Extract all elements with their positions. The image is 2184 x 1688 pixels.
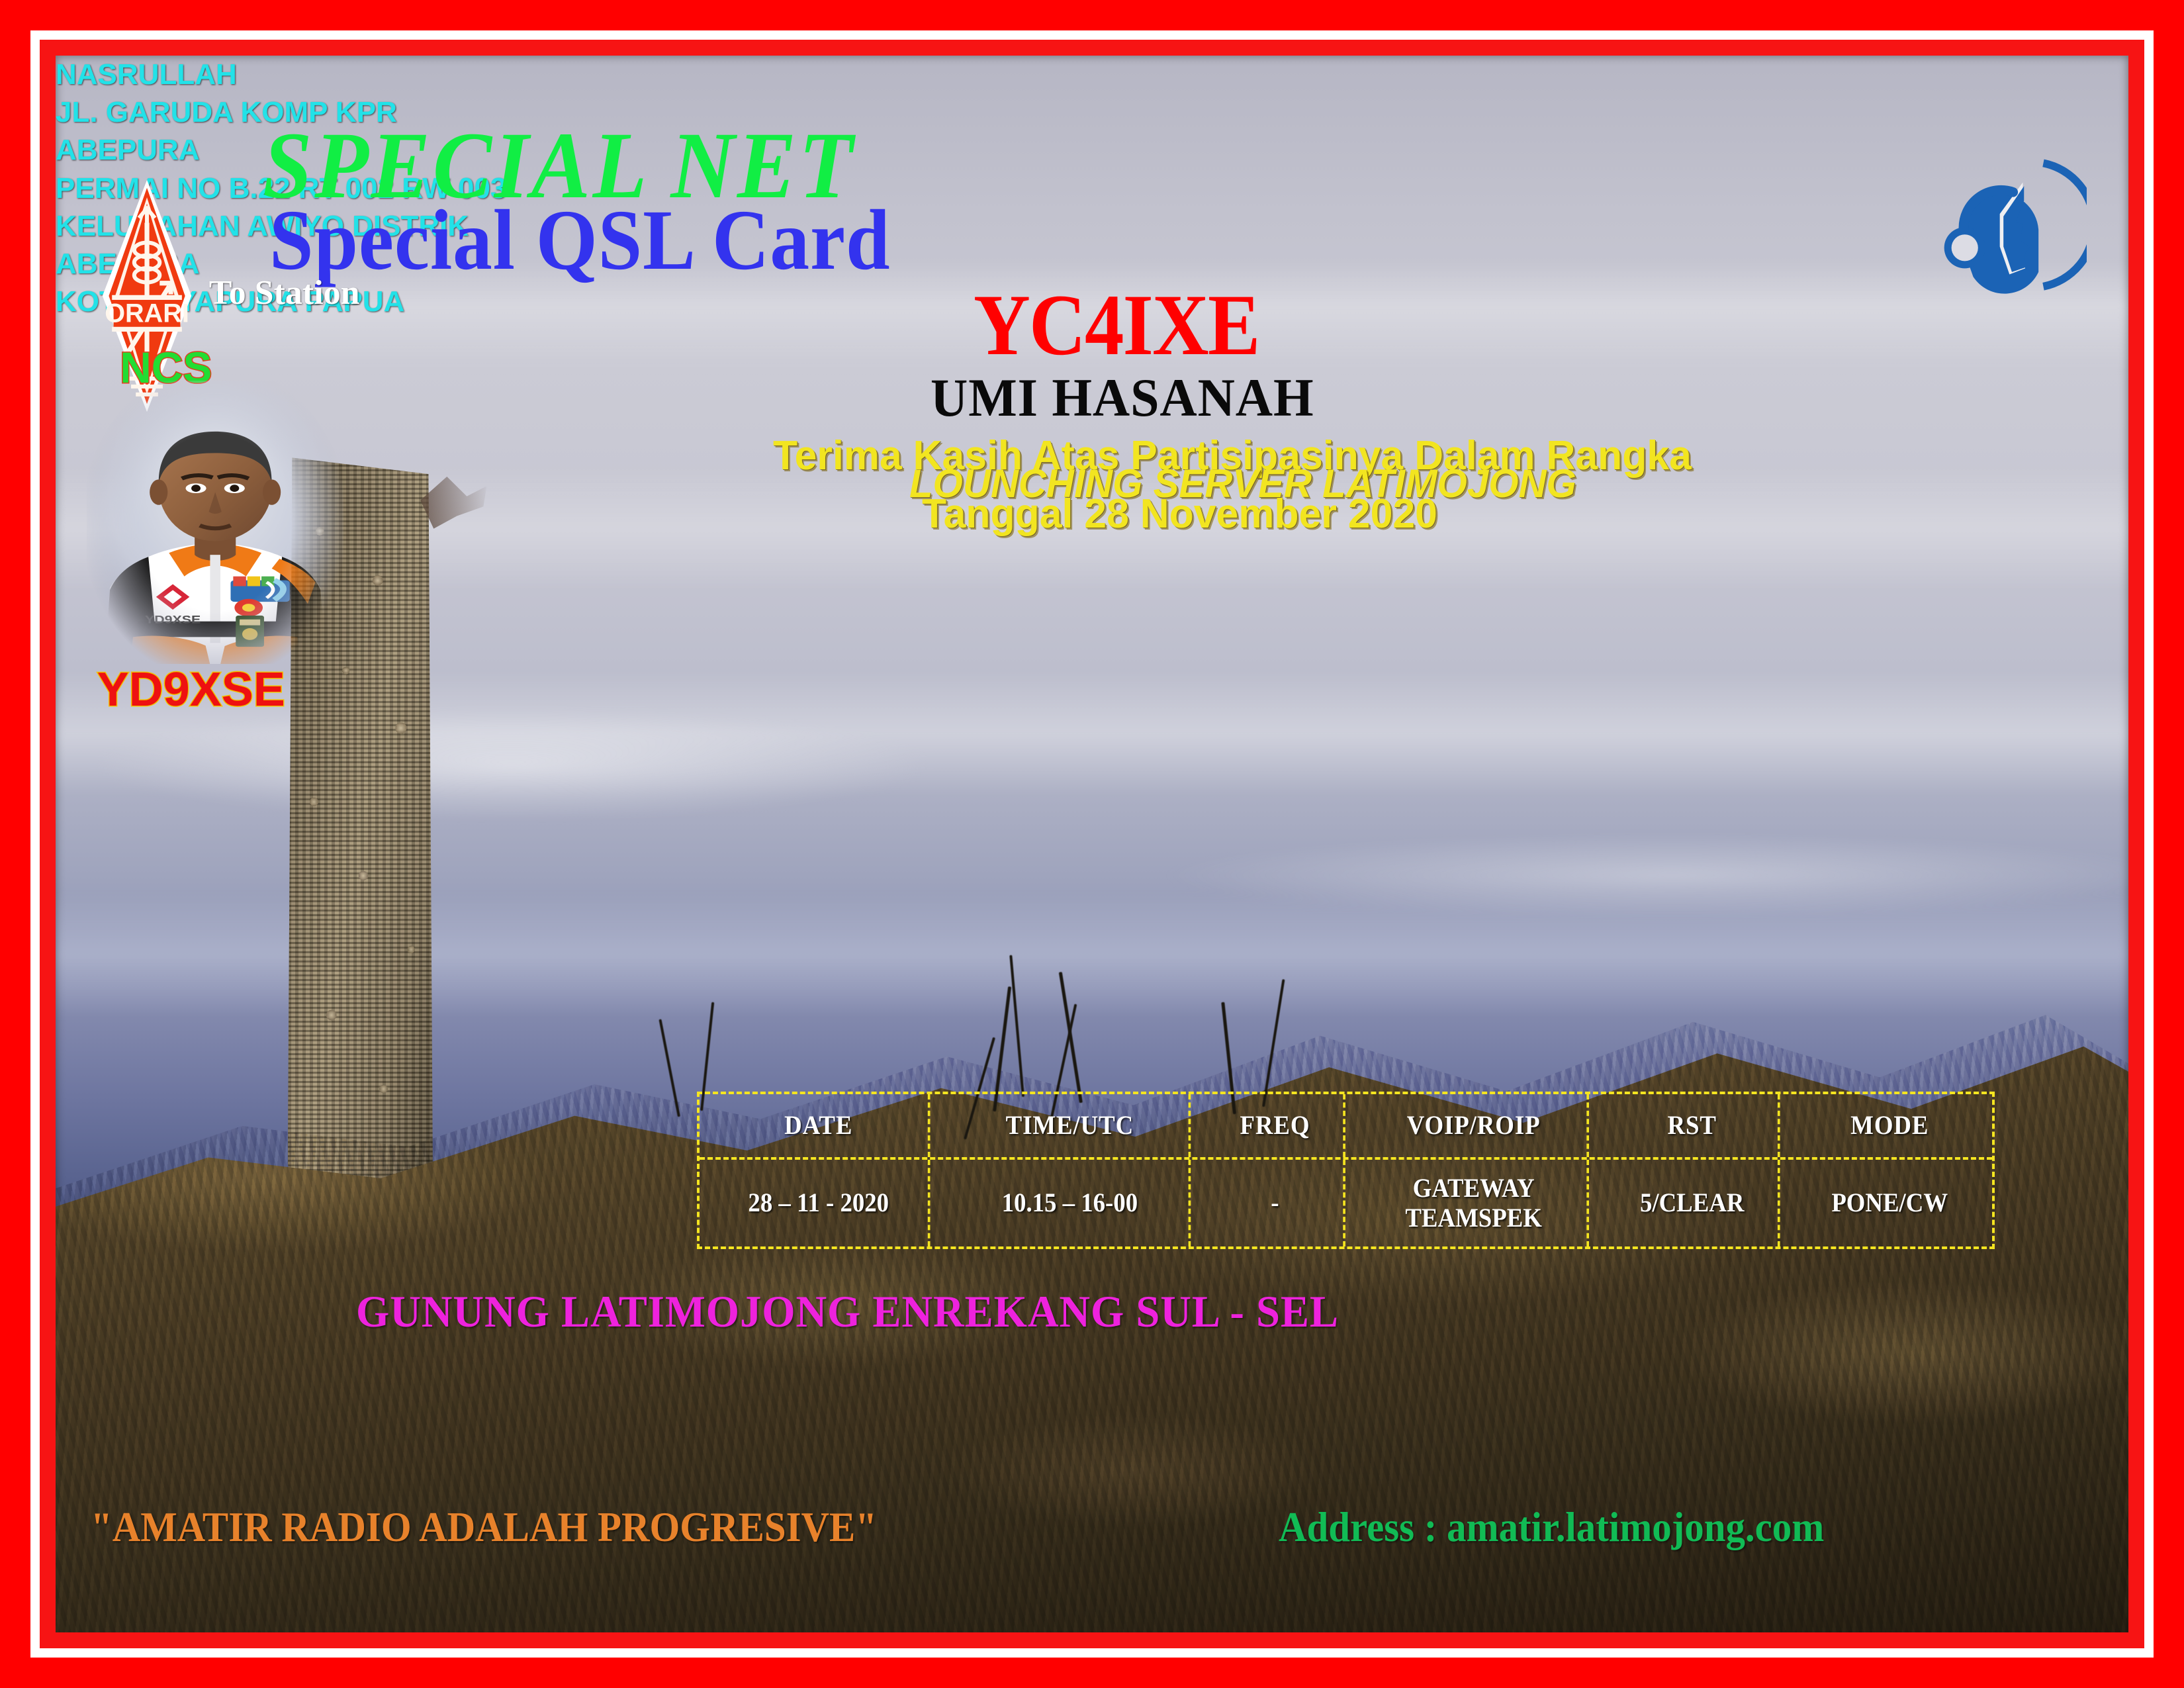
operator-callsign: YD9XSE [97, 666, 285, 714]
station-operator-name: UMI HASANAH [931, 371, 1314, 425]
shirt-callsign-text: YD9XSE [145, 614, 201, 626]
table-header-rst: RST [1607, 1094, 1780, 1157]
table-header-time-utc: TIME/UTC [950, 1094, 1191, 1157]
card-frame-white: ORARI [30, 30, 2154, 1658]
location-caption: GUNUNG LATIMOJONG ENREKANG SUL - SEL [356, 1289, 1339, 1334]
operator-photo: YD9XSE [87, 381, 343, 665]
content-layer: ORARI [56, 56, 2128, 1632]
qsl-card: ORARI [0, 0, 2184, 1688]
table-header-freq: FREQ [1207, 1094, 1345, 1157]
table-cell-rst: 5/CLEAR [1607, 1160, 1780, 1246]
table-header-mode: MODE [1796, 1094, 1984, 1157]
table-header-row: DATE TIME/UTC FREQ VOIP/ROIP RST MODE [700, 1094, 1992, 1160]
station-callsign: YC4IXE [974, 281, 1259, 369]
table-cell-voip-roip: GATEWAY TEAMSPEK [1361, 1160, 1589, 1246]
thanks-line-3: Tanggal 28 November 2020 [922, 494, 1437, 535]
to-station-label: To Station [209, 276, 360, 310]
footer-motto: "AMATIR RADIO ADALAH PROGRESIVE" [91, 1506, 877, 1548]
table-cell-time-utc: 10.15 – 16-00 [950, 1160, 1191, 1246]
table-cell-mode: PONE/CW [1796, 1160, 1984, 1246]
qso-table: DATE TIME/UTC FREQ VOIP/ROIP RST MODE 28… [697, 1092, 1995, 1249]
table-row: 28 – 11 - 2020 10.15 – 16-00 - GATEWAY T… [700, 1160, 1992, 1246]
page-subtitle: Special QSL Card [269, 197, 890, 283]
footer-web-address[interactable]: Address : amatir.latimojong.com [1279, 1506, 1824, 1548]
address-line: NASRULLAH [56, 56, 2128, 93]
orari-logo-text: ORARI [105, 299, 189, 328]
headset-face-logo [1942, 103, 2087, 347]
table-header-date: DATE [709, 1094, 931, 1157]
table-header-voip-roip: VOIP/ROIP [1361, 1094, 1589, 1157]
table-cell-date: 28 – 11 - 2020 [709, 1160, 931, 1246]
table-cell-freq: - [1207, 1160, 1345, 1246]
background-photo-mountain-summit: ORARI [56, 56, 2128, 1632]
card-frame-red-inner: ORARI [40, 40, 2144, 1648]
